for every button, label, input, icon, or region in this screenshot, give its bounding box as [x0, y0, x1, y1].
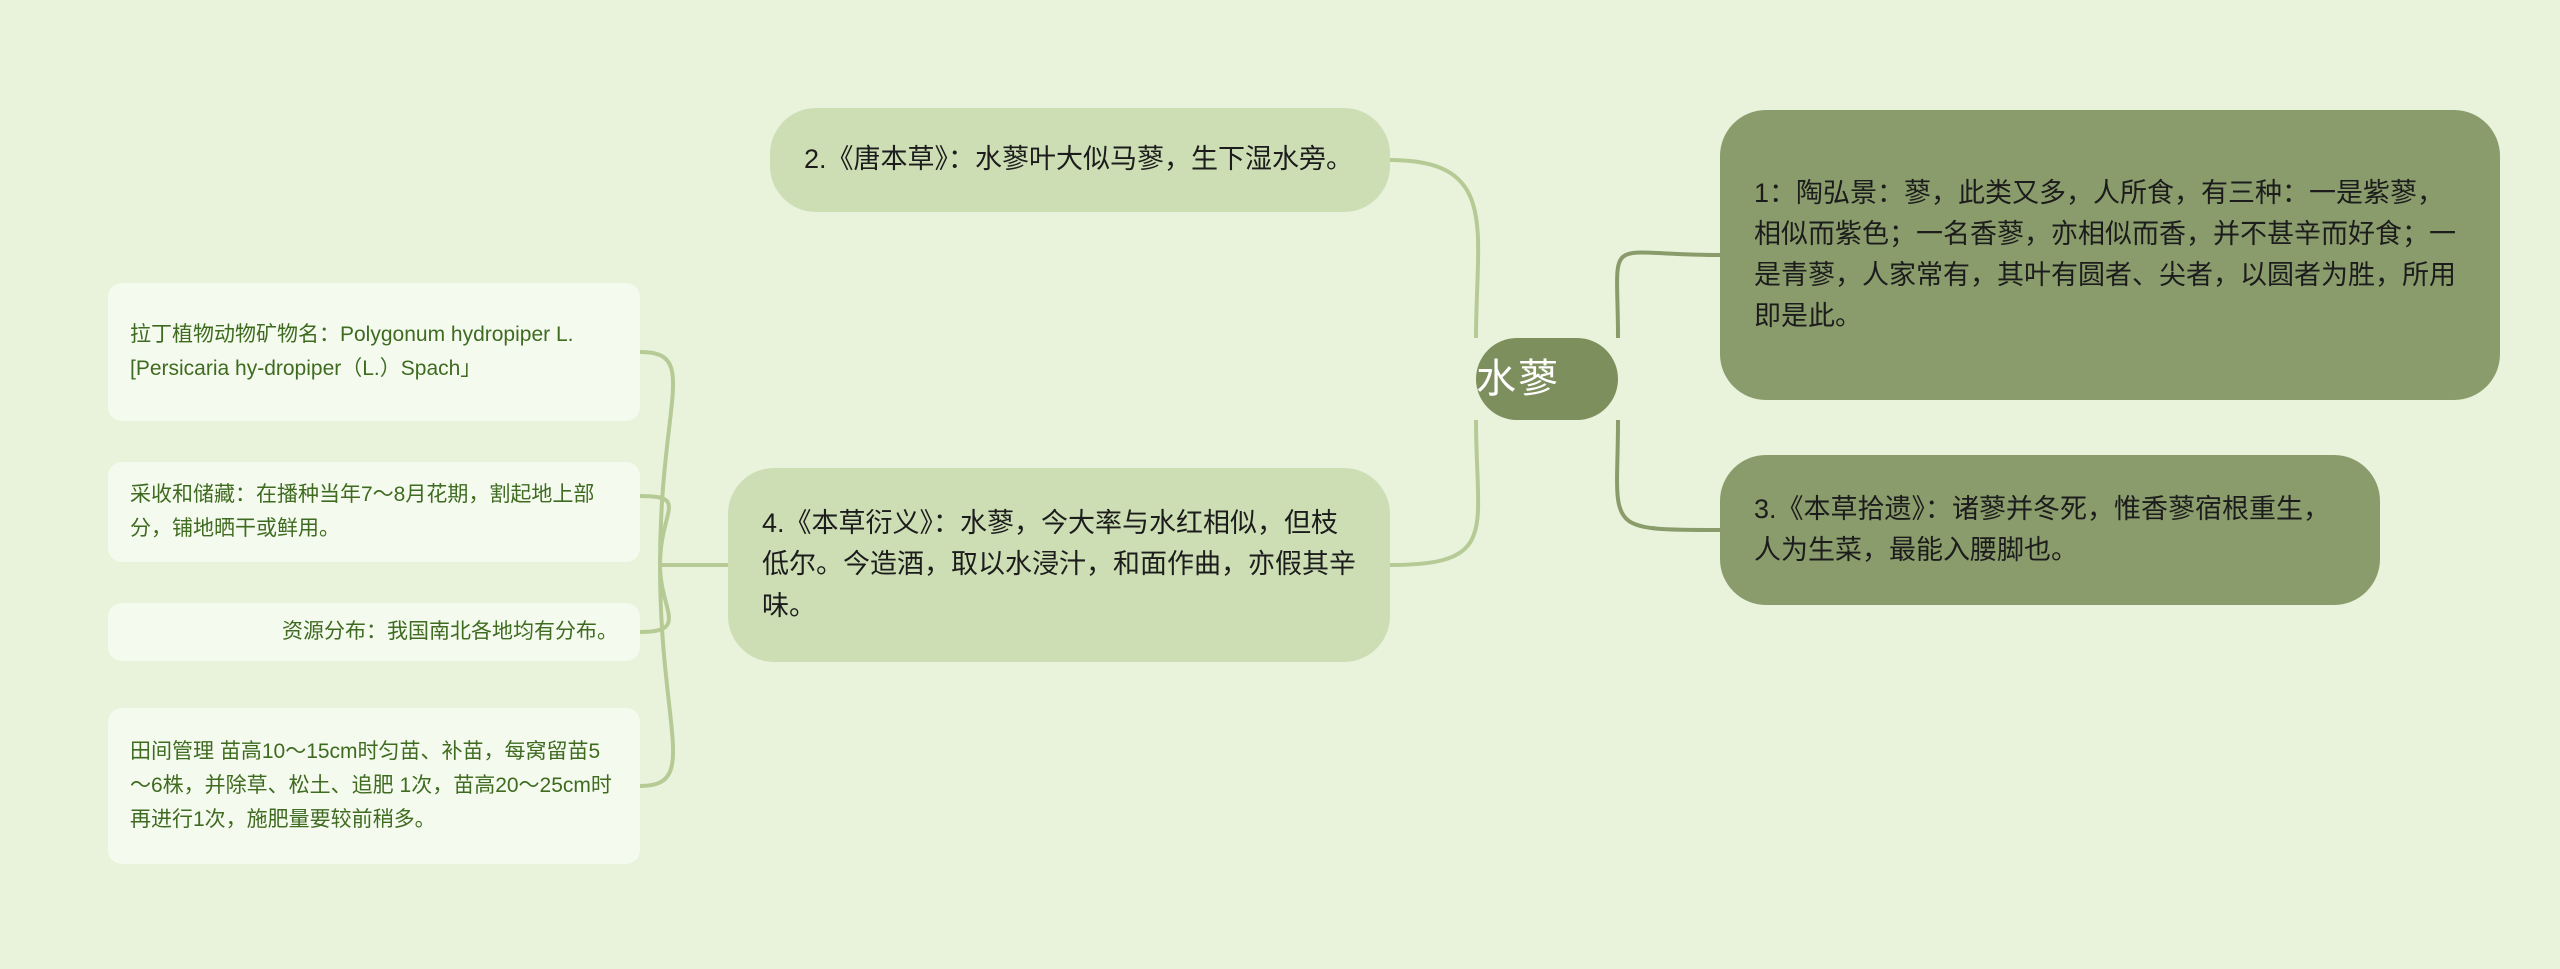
leaf-node-latin-name[interactable]: 拉丁植物动物矿物名：Polygonum hydropiper L.[Persic… [108, 283, 640, 421]
connector-spine-to-resource [640, 565, 669, 632]
branch-node-tao-hongjing[interactable]: 1：陶弘景：蓼，此类又多，人所食，有三种：一是紫蓼，相似而紫色；一名香蓼，亦相似… [1720, 110, 2500, 400]
root-node-label: 水蓼 [1476, 355, 1618, 403]
branch-node-tao-hongjing-label: 1：陶弘景：蓼，此类又多，人所食，有三种：一是紫蓼，相似而紫色；一名香蓼，亦相似… [1754, 173, 2466, 337]
connector-root-to-mid-right [1617, 420, 1720, 530]
connector-spine-to-latin-name [640, 352, 673, 565]
leaf-node-harvest-storage-label: 采收和储藏：在播种当年7～8月花期，割起地上部分，铺地晒干或鲜用。 [130, 478, 618, 546]
root-node[interactable]: 水蓼 [1476, 338, 1618, 420]
branch-node-tang-ben-cao-label: 2.《唐本草》：水蓼叶大似马蓼，生下湿水旁。 [804, 139, 1356, 180]
connector-root-to-top-right [1617, 252, 1720, 338]
leaf-node-resource-distribution-label: 资源分布：我国南北各地均有分布。 [130, 615, 618, 649]
branch-node-tang-ben-cao[interactable]: 2.《唐本草》：水蓼叶大似马蓼，生下湿水旁。 [770, 108, 1390, 212]
branch-node-ben-cao-shi-yi[interactable]: 3.《本草拾遗》：诸蓼并冬死，惟香蓼宿根重生，人为生菜，最能入腰脚也。 [1720, 455, 2380, 605]
leaf-node-harvest-storage[interactable]: 采收和储藏：在播种当年7～8月花期，割起地上部分，铺地晒干或鲜用。 [108, 462, 640, 562]
mindmap-canvas: 水蓼 2.《唐本草》：水蓼叶大似马蓼，生下湿水旁。 1：陶弘景：蓼，此类又多，人… [0, 0, 2560, 969]
branch-node-ben-cao-yan-yi[interactable]: 4.《本草衍义》：水蓼，今大率与水红相似，但枝低尔。今造酒，取以水浸汁，和面作曲… [728, 468, 1390, 662]
branch-node-ben-cao-shi-yi-label: 3.《本草拾遗》：诸蓼并冬死，惟香蓼宿根重生，人为生菜，最能入腰脚也。 [1754, 489, 2346, 571]
leaf-node-field-management[interactable]: 田间管理 苗高10～15cm时匀苗、补苗，每窝留苗5～6株，并除草、松土、追肥 … [108, 708, 640, 864]
leaf-node-resource-distribution[interactable]: 资源分布：我国南北各地均有分布。 [108, 603, 640, 661]
connector-spine-to-harvest [640, 496, 669, 565]
connector-root-to-mid-center [1390, 420, 1478, 565]
connector-root-to-top-center [1390, 160, 1478, 338]
leaf-node-latin-name-label: 拉丁植物动物矿物名：Polygonum hydropiper L.[Persic… [130, 318, 618, 386]
leaf-node-field-management-label: 田间管理 苗高10～15cm时匀苗、补苗，每窝留苗5～6株，并除草、松土、追肥 … [130, 735, 618, 837]
branch-node-ben-cao-yan-yi-label: 4.《本草衍义》：水蓼，今大率与水红相似，但枝低尔。今造酒，取以水浸汁，和面作曲… [762, 503, 1356, 626]
connector-spine-to-field-management [640, 565, 673, 786]
